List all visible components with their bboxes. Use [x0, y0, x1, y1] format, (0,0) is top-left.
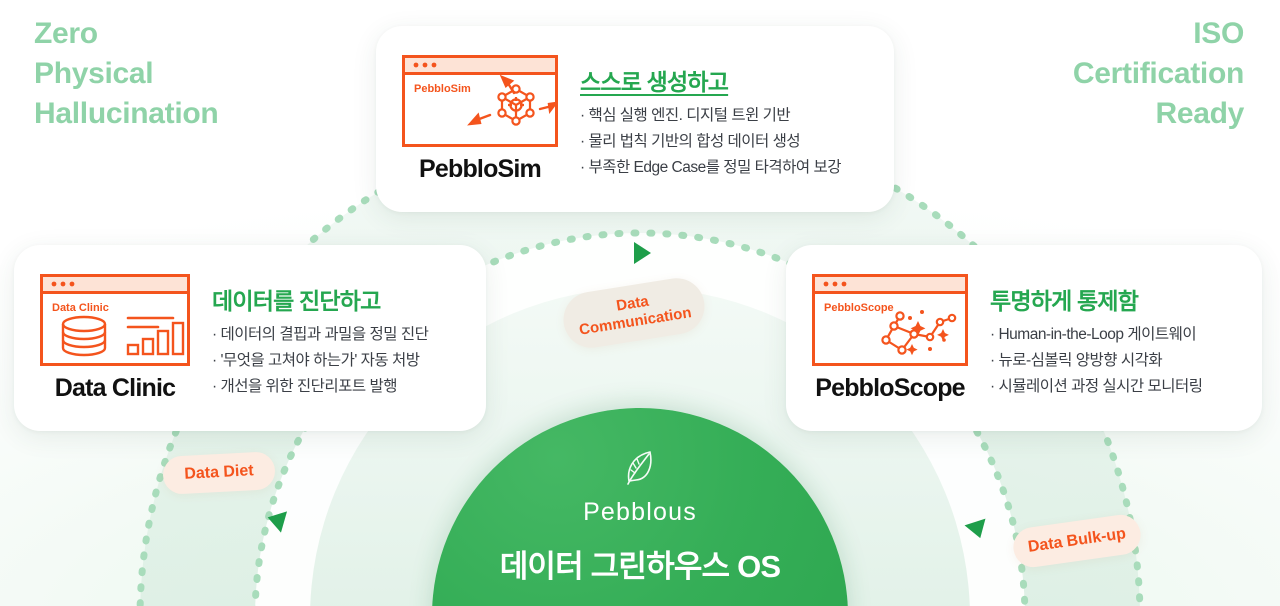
bullet-item: 뉴로-심볼릭 양방향 시각화 [990, 351, 1203, 371]
card-icon-group: Data Clinic Data Clinic [40, 274, 190, 403]
brand-name-pebbloscope: PebbloScope [815, 374, 965, 403]
platform-title: 데이터 그린하우스 OS [500, 541, 781, 586]
headline-right: ISO Certification Ready [1073, 14, 1244, 134]
constellation-star-map-icon: PebbloScope [812, 274, 968, 366]
bullet-item: Human-in-the-Loop 게이트웨이 [990, 325, 1203, 345]
hexagon-network-target-icon: PebbloSim [402, 55, 558, 147]
database-barchart-icon: Data Clinic [40, 274, 190, 366]
product-card-pebblosim[interactable]: PebbloSim [376, 26, 894, 212]
card-bullets-pebbloscope: Human-in-the-Loop 게이트웨이 뉴로-심볼릭 양방향 시각화 시… [990, 325, 1203, 397]
card-icon-group: PebbloSim [402, 55, 558, 184]
brand-name-dataclinic: Data Clinic [55, 374, 175, 403]
bullet-item: 시뮬레이션 과정 실시간 모니터링 [990, 377, 1203, 397]
card-text-group: 스스로 생성하고 핵심 실행 엔진. 디지털 트윈 기반 물리 법칙 기반의 합… [580, 61, 841, 178]
bullet-item: '무엇을 고쳐야 하는가' 자동 처방 [212, 351, 428, 371]
card-text-group: 투명하게 통제함 Human-in-the-Loop 게이트웨이 뉴로-심볼릭 … [990, 280, 1203, 397]
bullet-item: 데이터의 결핍과 과밀을 정밀 진단 [212, 325, 428, 345]
svg-text:PebbloScope: PebbloScope [824, 302, 894, 314]
pill-data-diet: Data Diet [162, 451, 276, 495]
brand-name-pebblosim: PebbloSim [419, 155, 541, 184]
bullet-item: 핵심 실행 엔진. 디지털 트윈 기반 [580, 106, 841, 126]
card-bullets-pebblosim: 핵심 실행 엔진. 디지털 트윈 기반 물리 법칙 기반의 합성 데이터 생성 … [580, 106, 841, 178]
infographic-canvas: Zero Physical Hallucination ISO Certific… [0, 0, 1280, 606]
product-card-dataclinic[interactable]: Data Clinic Data Clinic [14, 245, 486, 431]
bullet-item: 물리 법칙 기반의 합성 데이터 생성 [580, 132, 841, 152]
card-icon-group: PebbloScope [812, 274, 968, 403]
card-bullets-dataclinic: 데이터의 결핍과 과밀을 정밀 진단 '무엇을 고쳐야 하는가' 자동 처방 개… [212, 325, 428, 397]
bullet-item: 개선을 위한 진단리포트 발행 [212, 377, 428, 397]
svg-text:PebbloSim: PebbloSim [414, 83, 471, 95]
svg-text:Data Clinic: Data Clinic [52, 302, 109, 314]
card-title-dataclinic: 데이터를 진단하고 [212, 282, 428, 316]
card-title-pebblosim: 스스로 생성하고 [580, 63, 841, 97]
leaf-icon [623, 448, 657, 486]
card-title-pebbloscope: 투명하게 통제함 [990, 282, 1203, 316]
bullet-item: 부족한 Edge Case를 정밀 타격하여 보강 [580, 158, 841, 178]
card-text-group: 데이터를 진단하고 데이터의 결핍과 과밀을 정밀 진단 '무엇을 고쳐야 하는… [212, 280, 428, 397]
pebblous-wordmark: Pebblous [583, 498, 697, 527]
headline-left: Zero Physical Hallucination [34, 14, 218, 134]
product-card-pebbloscope[interactable]: PebbloScope [786, 245, 1262, 431]
